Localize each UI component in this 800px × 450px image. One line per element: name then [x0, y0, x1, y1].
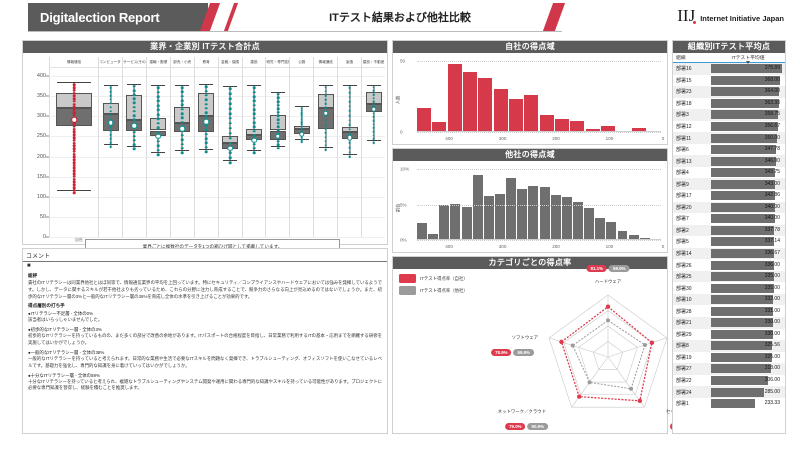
- table-value-bar: [711, 376, 768, 385]
- boxplot-data-point: [73, 106, 76, 109]
- histogram-bar[interactable]: [517, 189, 527, 240]
- histogram-bar[interactable]: [595, 218, 605, 240]
- table-row[interactable]: 部署5337.14: [673, 236, 785, 248]
- histogram-bar[interactable]: [509, 99, 523, 132]
- boxplot-data-point: [348, 110, 351, 113]
- boxplot-glyph: [243, 68, 266, 237]
- boxplot-data-point: [109, 142, 112, 145]
- boxplot-data-point: [301, 125, 304, 128]
- table-row[interactable]: 部署21330.00: [673, 317, 785, 329]
- table-cell-avg: 364.00: [711, 87, 782, 96]
- boxplot-column[interactable]: 運輸・郵便: [146, 57, 170, 237]
- comment-item-text: 一般的なITリテラシーを持っていると考えられます。日常的な業務や生活で必要なIT…: [28, 356, 382, 370]
- table-value-bar: [711, 307, 773, 316]
- boxplot-data-point: [205, 98, 208, 101]
- table-value-label: 340.00: [765, 203, 780, 212]
- radar-data-point[interactable]: [629, 387, 633, 391]
- boxplot-data-point: [109, 145, 112, 148]
- boxplot-data-point: [277, 100, 280, 103]
- table-cell-avg: 325.00: [711, 353, 782, 362]
- boxplot-y-tick: 200: [37, 154, 46, 160]
- histogram-bar[interactable]: [528, 186, 538, 240]
- boxplot-data-point: [157, 127, 160, 130]
- histogram-bar[interactable]: [439, 205, 449, 241]
- boxplot-column-label: サービス(その他): [123, 57, 146, 68]
- table-row[interactable]: 部署19325.00: [673, 352, 785, 364]
- boxplot-data-point: [372, 130, 375, 133]
- boxplot-y-tick: 350: [37, 93, 46, 99]
- histogram-x-axis: [417, 239, 661, 240]
- histogram-x-tick: 200: [552, 244, 560, 249]
- boxplot-data-point: [229, 92, 232, 95]
- boxplot-mean-marker: [132, 123, 138, 129]
- table-cell-org: 部署8: [673, 342, 711, 349]
- boxplot-data-point: [73, 139, 76, 142]
- table-row[interactable]: 部署12356.67: [673, 121, 785, 133]
- boxplot-data-point: [348, 151, 351, 154]
- boxplot-glyph: [147, 68, 170, 237]
- boxplot-data-point: [253, 91, 256, 94]
- table-value-label: 335.00: [765, 284, 780, 293]
- table-value-label: 378.89: [765, 64, 780, 73]
- table-row[interactable]: 部署15368.00: [673, 75, 785, 87]
- histogram-bar[interactable]: [573, 202, 583, 240]
- table-col-header-org[interactable]: 組織: [673, 54, 711, 61]
- table-row[interactable]: 部署13346.00: [673, 155, 785, 167]
- radar-axis-line: [608, 338, 667, 357]
- boxplot-data-point: [109, 114, 112, 117]
- radar-value-pill-group: 81.1%59.0%: [587, 265, 630, 272]
- histogram-bar[interactable]: [524, 95, 538, 132]
- boxplot-data-point: [324, 94, 327, 97]
- histogram-bar[interactable]: [606, 222, 616, 240]
- histogram-gridline: [417, 205, 661, 206]
- boxplot-data-point: [229, 112, 232, 115]
- table-cell-org: 部署22: [673, 377, 711, 384]
- comment-section1-heading: 総評: [28, 273, 382, 279]
- boxplot-data-point: [301, 138, 304, 141]
- histogram-y-tick: 0: [400, 130, 403, 135]
- boxplot-glyph: [266, 68, 289, 237]
- boxplot-data-point: [348, 91, 351, 94]
- boxplot-data-point: [372, 134, 375, 137]
- boxplot-data-point: [372, 86, 375, 89]
- histogram-bar[interactable]: [417, 223, 427, 240]
- radar-axis-label: ハードウェア: [595, 279, 621, 285]
- boxplot-data-point: [73, 84, 76, 87]
- boxplot-mean-marker: [71, 117, 77, 123]
- boxplot-data-point: [205, 142, 208, 145]
- boxplot-data-point: [73, 186, 76, 189]
- radar-data-point[interactable]: [606, 305, 610, 309]
- boxplot-data-point: [324, 123, 327, 126]
- boxplot-column[interactable]: 建設・不動産: [361, 57, 385, 237]
- boxplot-data-point: [372, 112, 375, 115]
- boxplot-column-label: 公務: [290, 57, 313, 68]
- boxplot-data-point: [253, 130, 256, 133]
- histogram-bar[interactable]: [540, 115, 554, 132]
- boxplot-data-point: [73, 161, 76, 164]
- boxplot-data-point: [301, 114, 304, 117]
- histogram-bar[interactable]: [584, 208, 594, 240]
- boxplot-data-point: [73, 150, 76, 153]
- boxplot-data-point: [348, 123, 351, 126]
- boxplot-data-point: [205, 146, 208, 149]
- logo-mark: IIJ: [677, 6, 695, 26]
- boxplot-data-point: [133, 143, 136, 146]
- table-row[interactable]: 部署29330.00: [673, 329, 785, 341]
- table-value-label: 364.00: [765, 87, 780, 96]
- boxplot-data-point: [301, 127, 304, 130]
- table-row[interactable]: 部署27318.00: [673, 363, 785, 375]
- histogram-own-title: 自社の得点域: [393, 41, 667, 53]
- boxplot-data-point: [73, 97, 76, 100]
- table-row[interactable]: 部署28331.00: [673, 305, 785, 317]
- boxplot-data-point: [133, 147, 136, 150]
- boxplot-column[interactable]: 情報通信: [313, 57, 337, 237]
- table-row[interactable]: 部署24285.00: [673, 386, 785, 398]
- table-cell-org: 部署19: [673, 354, 711, 361]
- boxplot-data-point: [157, 118, 160, 121]
- table-cell-org: 部署18: [673, 100, 711, 107]
- histogram-own-panel: 自社の得点域 人数 0504003002001000: [392, 40, 668, 145]
- boxplot-data-point: [205, 124, 208, 127]
- histogram-bar[interactable]: [463, 72, 477, 132]
- boxplot-data-point: [229, 162, 232, 165]
- table-row[interactable]: 部署20340.00: [673, 202, 785, 214]
- radar-data-point[interactable]: [606, 318, 610, 322]
- histogram-x-tick: 400: [445, 244, 453, 249]
- histogram-other-body: 割合 0%5%10%4003002001000: [393, 161, 667, 254]
- boxplot-data-point: [109, 94, 112, 97]
- boxplot-data-point: [181, 117, 184, 120]
- radar-axis-label: ネットワーク／クラウド: [498, 409, 546, 415]
- histogram-bar[interactable]: [462, 207, 472, 240]
- histogram-y-tick: 0%: [400, 238, 407, 243]
- boxplot-data-point: [229, 132, 232, 135]
- boxplot-data-point: [73, 131, 76, 134]
- boxplot-data-point: [229, 97, 232, 100]
- table-row[interactable]: 部署9343.00: [673, 178, 785, 190]
- comment-panel: コメント ■ 総評 貴社のITリテラシーは同業界他社とはぼ同等で、情報通信業界の…: [22, 248, 388, 434]
- table-value-bar: [711, 318, 773, 327]
- radar-data-point[interactable]: [559, 340, 563, 344]
- boxplot-data-point: [181, 138, 184, 141]
- histogram-other-panel: 他社の得点域 割合 0%5%10%4003002001000: [392, 148, 668, 253]
- boxplot-data-point: [348, 96, 351, 99]
- boxplot-mean-marker: [323, 111, 329, 117]
- histogram-bar[interactable]: [450, 204, 460, 240]
- table-value-label: 332.00: [765, 295, 780, 304]
- boxplot-data-point: [277, 104, 280, 107]
- boxplot-data-point: [181, 99, 184, 102]
- table-row[interactable]: 部署11350.00: [673, 132, 785, 144]
- boxplot-data-point: [181, 143, 184, 146]
- boxplot-column[interactable]: 教育: [194, 57, 218, 237]
- table-row[interactable]: 部署17342.86: [673, 190, 785, 202]
- boxplot-data-point: [301, 123, 304, 126]
- boxplot-data-point: [229, 137, 232, 140]
- table-row[interactable]: 部署2337.78: [673, 225, 785, 237]
- boxplot-data-point: [229, 107, 232, 110]
- boxplot-data-point: [253, 95, 256, 98]
- boxplot-data-point: [181, 152, 184, 155]
- comment-header: コメント: [23, 249, 387, 262]
- boxplot-data-point: [205, 107, 208, 110]
- histogram-bar[interactable]: [551, 195, 561, 240]
- table-cell-org: 部署9: [673, 181, 711, 188]
- radar-value-pill-group: 78.9%59.9%: [491, 349, 534, 356]
- radar-data-point[interactable]: [571, 344, 575, 348]
- boxplot-mean-marker: [227, 145, 233, 151]
- boxplot-data-point: [324, 103, 327, 106]
- histogram-x-tick: 300: [499, 244, 507, 249]
- radar-data-point[interactable]: [638, 399, 642, 403]
- header-divider: [28, 31, 562, 32]
- boxplot-data-point: [157, 86, 160, 89]
- boxplot-mean-marker: [108, 120, 114, 126]
- table-cell-avg: 318.00: [711, 364, 782, 373]
- boxplot-title: 業界・企業別 ITテスト合計点: [23, 41, 387, 53]
- boxplot-data-point: [109, 90, 112, 93]
- boxplot-column-label: 情報通信: [50, 57, 98, 68]
- radar-value-own: 81.1%: [587, 265, 607, 272]
- boxplot-data-point: [253, 108, 256, 111]
- radar-data-point[interactable]: [588, 380, 592, 384]
- boxplot-data-point: [372, 116, 375, 119]
- table-value-bar: [711, 341, 772, 350]
- histogram-bar[interactable]: [540, 187, 550, 240]
- table-value-bar: [711, 399, 755, 408]
- boxplot-data-point: [277, 147, 280, 150]
- table-row[interactable]: 部署1233.33: [673, 398, 785, 410]
- table-cell-org: 部署11: [673, 135, 711, 142]
- boxplot-data-point: [109, 98, 112, 101]
- comment-item-text: 十分なITリテラシーを持っていると考えられ、複雑なトラブルシューティングやシステ…: [28, 379, 382, 393]
- boxplot-column-label: 情報通信: [314, 57, 337, 68]
- boxplot-data-point: [73, 175, 76, 178]
- table-row[interactable]: 部署30335.00: [673, 282, 785, 294]
- boxplot-mean-marker: [347, 135, 353, 141]
- boxplot-data-point: [229, 102, 232, 105]
- table-value-bar: [711, 330, 773, 339]
- boxplot-data-point: [205, 133, 208, 136]
- histogram-bar[interactable]: [494, 89, 508, 132]
- table-value-label: 336.67: [765, 249, 780, 258]
- report-page: Digitalection Report ITテスト結果および他社比較 IIJ …: [0, 0, 800, 450]
- boxplot-column[interactable]: サービス(その他): [122, 57, 146, 237]
- table-value-label: 331.00: [765, 307, 780, 316]
- boxplot-data-point: [324, 86, 327, 89]
- boxplot-data-point: [157, 149, 160, 152]
- histogram-x-tick: 100: [606, 136, 614, 141]
- table-cell-avg: 340.00: [711, 203, 782, 212]
- boxplot-data-point: [348, 100, 351, 103]
- boxplot-data-point: [229, 117, 232, 120]
- boxplot-column[interactable]: コンピュータ・通信機器: [98, 57, 122, 237]
- radar-value-other: 59.0%: [609, 265, 629, 272]
- table-row[interactable]: 部署4343.75: [673, 167, 785, 179]
- histogram-y-tick: 50: [400, 59, 405, 64]
- boxplot-data-point: [277, 143, 280, 146]
- histogram-bar[interactable]: [478, 78, 492, 132]
- table-cell-avg: 332.00: [711, 295, 782, 304]
- radar-data-point[interactable]: [643, 343, 647, 347]
- boxplot-data-point: [181, 95, 184, 98]
- histogram-bar[interactable]: [484, 196, 494, 240]
- table-cell-avg: 363.33: [711, 99, 782, 108]
- boxplot-data-point: [277, 108, 280, 111]
- boxplot-data-point: [205, 150, 208, 153]
- boxplot-column-label: 卸売・小売: [171, 57, 194, 68]
- boxplot-data-point: [253, 121, 256, 124]
- histogram-gridline: [417, 132, 661, 133]
- boxplot-column[interactable]: 製造: [337, 57, 361, 237]
- table-value-label: 358.75: [765, 110, 780, 119]
- boxplot-data-point: [73, 103, 76, 106]
- table-row[interactable]: 部署16378.89: [673, 63, 785, 75]
- boxplot-data-point: [277, 115, 280, 118]
- boxplot-column[interactable]: 卸売・小売: [170, 57, 194, 237]
- histogram-y-tick: 10%: [400, 167, 409, 172]
- boxplot-y-tick: 400: [37, 73, 46, 79]
- boxplot-data-point: [372, 127, 375, 130]
- boxplot-data-point: [181, 86, 184, 89]
- boxplot-data-point: [348, 119, 351, 122]
- boxplot-data-point: [73, 128, 76, 131]
- boxplot-glyph: [314, 68, 337, 237]
- radar-value-other: 59.9%: [514, 349, 534, 356]
- table-cell-avg: 343.75: [711, 168, 782, 177]
- table-value-label: 347.78: [765, 145, 780, 154]
- boxplot-data-point: [73, 178, 76, 181]
- histogram-bar[interactable]: [495, 194, 505, 240]
- boxplot-data-point: [73, 136, 76, 139]
- boxplot-mean-marker: [156, 133, 162, 139]
- boxplot-mean-marker: [180, 126, 186, 132]
- table-row[interactable]: 部署18363.33: [673, 98, 785, 110]
- table-value-label: 325.00: [765, 353, 780, 362]
- table-row[interactable]: 部署10332.00: [673, 294, 785, 306]
- boxplot-data-point: [229, 152, 232, 155]
- boxplot-data-point: [73, 147, 76, 150]
- boxplot-data-point: [133, 89, 136, 92]
- radar-data-point[interactable]: [577, 394, 581, 398]
- histogram-x-tick: 300: [499, 136, 507, 141]
- boxplot-data-point: [133, 110, 136, 113]
- histogram-gridline: [417, 169, 661, 170]
- header-subtitle-area: ITテスト結果および他社比較: [240, 3, 560, 31]
- table-cell-avg: 347.78: [711, 145, 782, 154]
- boxplot-glyph: [362, 68, 385, 237]
- table-cell-org: 部署24: [673, 389, 711, 396]
- boxplot-data-point: [73, 172, 76, 175]
- boxplot-column-label: 建設・不動産: [362, 57, 385, 68]
- boxplot-data-point: [205, 90, 208, 93]
- table-value-label: 363.33: [765, 99, 780, 108]
- table-value-bar: [711, 388, 764, 397]
- boxplot-data-point: [109, 130, 112, 133]
- table-row[interactable]: 部署23364.00: [673, 86, 785, 98]
- boxplot-panel: 業界・企業別 ITテスト合計点 400350300250200150100500…: [22, 40, 388, 245]
- boxplot-data-point: [157, 109, 160, 112]
- boxplot-data-point: [348, 128, 351, 131]
- boxplot-column[interactable]: 情報通信: [49, 57, 98, 237]
- table-cell-avg: 340.00: [711, 214, 782, 223]
- boxplot-data-point: [253, 147, 256, 150]
- boxplot-data-point: [253, 100, 256, 103]
- boxplot-data-point: [348, 146, 351, 149]
- boxplot-y-tick: 300: [37, 113, 46, 119]
- boxplot-data-point: [253, 143, 256, 146]
- boxplot-column[interactable]: 公務: [289, 57, 313, 237]
- table-cell-org: 部署10: [673, 296, 711, 303]
- boxplot-column[interactable]: 金融・保険: [218, 57, 242, 237]
- comment-bullet-icon: ■: [23, 262, 387, 270]
- boxplot-data-point: [277, 118, 280, 121]
- histogram-gridline: [417, 240, 661, 241]
- table-panel: 組織別ITテスト平均点 組織 ITテスト平均値 部署16378.89部署1536…: [672, 40, 786, 434]
- boxplot-data-point: [73, 111, 76, 114]
- table-value-label: 306.00: [765, 376, 780, 385]
- table-value-label: 337.14: [765, 237, 780, 246]
- histogram-bar[interactable]: [473, 175, 483, 240]
- page-header: Digitalection Report ITテスト結果および他社比較 IIJ …: [0, 0, 800, 36]
- histogram-x-tick: 0: [662, 244, 665, 249]
- boxplot-data-point: [181, 104, 184, 107]
- boxplot-data-point: [157, 122, 160, 125]
- radar-value-own: 79.0%: [505, 423, 525, 430]
- table-row[interactable]: 部署26336.00: [673, 259, 785, 271]
- comment-item-list: ●ITリテラシー不足層 - 全体の0%該当者はいらっしゃいませんでした。●初歩的…: [28, 311, 382, 392]
- boxplot-column-label: 運輸・郵便: [147, 57, 170, 68]
- boxplot-data-point: [348, 142, 351, 145]
- boxplot-data-point: [109, 106, 112, 109]
- boxplot-column-label: 教育: [195, 57, 218, 68]
- boxplot-data-point: [372, 101, 375, 104]
- table-row[interactable]: 部署6347.78: [673, 144, 785, 156]
- boxplot-data-point: [157, 140, 160, 143]
- boxplot-y-tick: 250: [37, 133, 46, 139]
- histogram-bar[interactable]: [448, 64, 462, 132]
- boxplot-data-point: [372, 97, 375, 100]
- boxplot-data-point: [324, 98, 327, 101]
- boxplot-column[interactable]: 建設: [242, 57, 266, 237]
- histogram-bar[interactable]: [417, 108, 431, 132]
- boxplot-data-point: [253, 87, 256, 90]
- table-row[interactable]: 部署7340.00: [673, 213, 785, 225]
- boxplot-data-point: [324, 107, 327, 110]
- boxplot-data-point: [73, 183, 76, 186]
- table-row[interactable]: 部署22306.00: [673, 375, 785, 387]
- table-row[interactable]: 部署8325.56: [673, 340, 785, 352]
- histogram-bar[interactable]: [506, 178, 516, 240]
- table-cell-avg: 306.00: [711, 376, 782, 385]
- radar-data-point[interactable]: [650, 341, 654, 345]
- boxplot-data-point: [324, 90, 327, 93]
- boxplot-column[interactable]: 研究・専門技術サービス: [265, 57, 289, 237]
- table-col-header-avg[interactable]: ITテスト平均値: [711, 54, 785, 61]
- table-row[interactable]: 部署25335.00: [673, 271, 785, 283]
- radar-axis-line: [549, 338, 608, 357]
- boxplot-y-tick: 150: [37, 174, 46, 180]
- table-row[interactable]: 部署3358.75: [673, 109, 785, 121]
- table-value-label: 350.00: [765, 134, 780, 143]
- boxplot-data-point: [109, 126, 112, 129]
- boxplot-data-point: [73, 142, 76, 145]
- brand-title: Digitalection Report: [28, 10, 160, 25]
- table-row[interactable]: 部署14336.67: [673, 248, 785, 260]
